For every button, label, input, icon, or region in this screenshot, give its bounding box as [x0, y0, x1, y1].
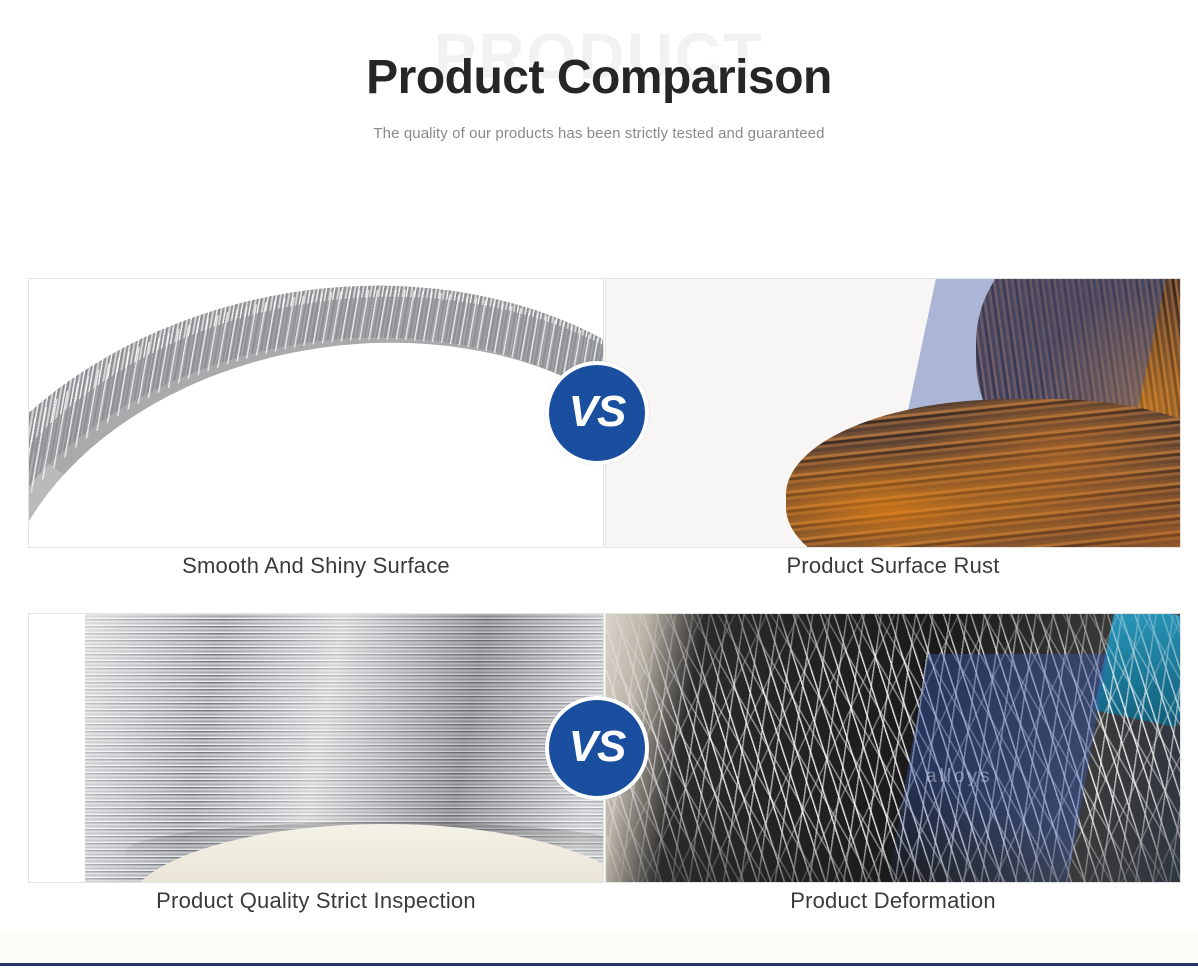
page-title: Product Comparison [0, 52, 1198, 105]
others-image-panel-2: alloys [605, 613, 1181, 883]
vs-badge-label: VS [569, 390, 626, 434]
vs-badge-label: VS [569, 725, 626, 769]
others-caption-1: Product Surface Rust [605, 553, 1181, 579]
ours-caption-2: Product Quality Strict Inspection [28, 888, 604, 914]
shiny-steel-wire-coil-photo [29, 279, 603, 547]
ours-image-panel-2 [28, 613, 604, 883]
comparison-row: alloys VS Product Quality Strict Inspect… [0, 613, 1198, 948]
footer-strip [0, 930, 1198, 963]
tangled-deformed-wire-photo: alloys [606, 614, 1180, 882]
brand-row: ® OTHERS [0, 170, 1198, 270]
page-subtitle: The quality of our products has been str… [0, 125, 1198, 142]
vs-badge-1: VS [545, 361, 649, 465]
page-header: PRODUCT Product Comparison The quality o… [0, 0, 1198, 170]
wire-spool-photo [29, 614, 603, 882]
comparison-row: VS Smooth And Shiny Surface Product Surf… [0, 278, 1198, 613]
rusty-wire-coil-photo [606, 279, 1180, 547]
footer-divider [0, 963, 1198, 966]
comparison-grid: VS Smooth And Shiny Surface Product Surf… [0, 278, 1198, 948]
ours-caption-1: Smooth And Shiny Surface [28, 553, 604, 579]
vs-badge-2: VS [545, 696, 649, 800]
others-caption-2: Product Deformation [605, 888, 1181, 914]
photo-watermark-text: alloys [926, 766, 993, 788]
ours-image-panel-1 [28, 278, 604, 548]
others-image-panel-1 [605, 278, 1181, 548]
wire-gloss-shape [28, 278, 604, 548]
rust-pile-lower-tint [786, 399, 1181, 548]
